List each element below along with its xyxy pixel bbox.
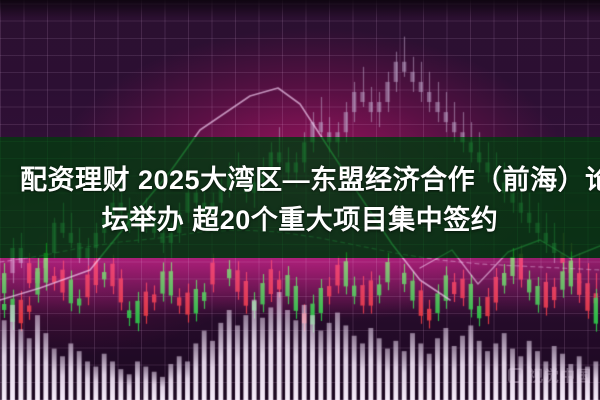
top-vignette: [0, 0, 600, 18]
headline-line-2: 坛举办 超20个重大项目集中签约: [14, 200, 586, 240]
banner-image: 配资理财 2025大湾区—东盟经济合作（前海）论 坛举办 超20个重大项目集中签…: [0, 0, 600, 400]
headline: 配资理财 2025大湾区—东盟经济合作（前海）论 坛举办 超20个重大项目集中签…: [0, 160, 600, 240]
headline-line-1: 配资理财 2025大湾区—东盟经济合作（前海）论: [14, 160, 586, 200]
magenta-tint-band: [0, 258, 600, 318]
